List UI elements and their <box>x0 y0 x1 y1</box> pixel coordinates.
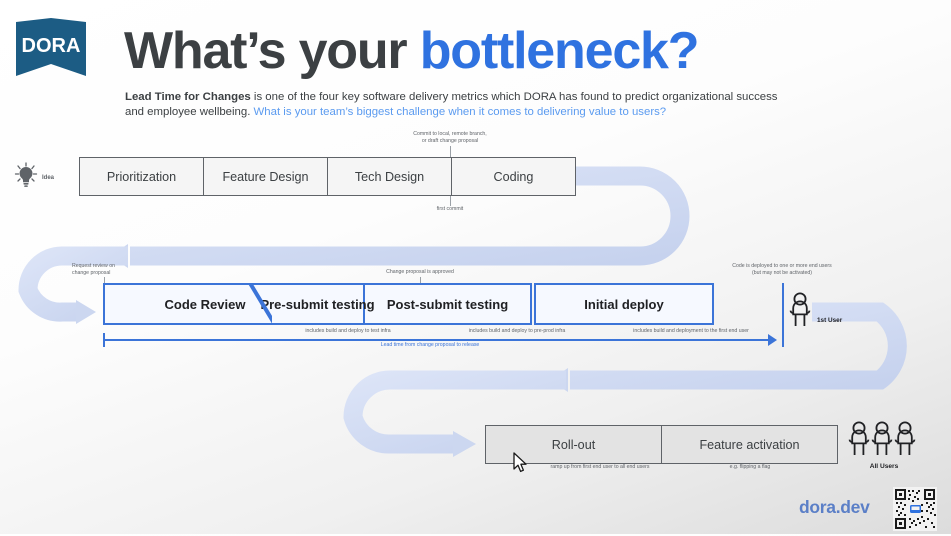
stage-label: Prioritization <box>107 170 176 184</box>
lead-time-arrow-icon <box>768 334 777 346</box>
subtitle-metric-name: Lead Time for Changes <box>125 91 251 103</box>
dora-logo-text: DORA <box>22 35 81 57</box>
row3-stages: Roll-out Feature activation <box>485 425 838 464</box>
page-title-highlight: bottleneck? <box>420 22 699 80</box>
stage-label: Coding <box>494 170 534 184</box>
idea-label: Idea <box>42 175 54 181</box>
stage-label: Initial deploy <box>584 297 663 312</box>
stage-label: Roll-out <box>552 438 595 452</box>
annotation-commit-line1: Commit to local, remote branch, <box>390 131 510 138</box>
all-users-label: All Users <box>850 463 918 470</box>
annotation-request-review-line1: Request review on <box>72 263 182 270</box>
row2-stages: Code Review Post-submit testing Initial … <box>103 283 777 325</box>
dora-logo: DORA <box>12 18 90 90</box>
stage-label: Pre-submit testing <box>260 297 374 312</box>
annotation-firstcommit-tick <box>450 196 451 206</box>
person-icon <box>789 292 811 333</box>
stage-label: Tech Design <box>355 170 424 184</box>
slide-canvas: DORA What’s your bottleneck? Lead Time f… <box>0 0 951 534</box>
stage-label: Post-submit testing <box>387 297 508 312</box>
annotation-deployed-line1: Code is deployed to one or more end user… <box>692 263 872 270</box>
person-icon <box>848 419 870 464</box>
stage-label: Feature activation <box>699 438 799 452</box>
first-user-marker: 1st User <box>789 292 842 333</box>
subtitle-question-link[interactable]: What is your team’s biggest challenge wh… <box>254 106 667 118</box>
idea-start-marker: Idea <box>14 162 54 193</box>
stage-tech-design[interactable]: Tech Design <box>328 158 452 195</box>
page-subtitle: Lead Time for Changes is one of the four… <box>125 90 790 120</box>
qr-code-icon[interactable] <box>893 487 937 531</box>
stage-label: Code Review <box>165 297 246 312</box>
footer-url[interactable]: dora.dev <box>799 497 870 518</box>
annotation-deployed-line2: (but may not be activated) <box>692 270 872 277</box>
stage-feature-design[interactable]: Feature Design <box>204 158 328 195</box>
annotation-commit-tick <box>450 146 451 157</box>
mouse-cursor <box>513 452 529 474</box>
stage-pre-submit-testing[interactable]: Pre-submit testing <box>272 283 363 325</box>
person-icon <box>894 419 916 464</box>
stage-label: Feature Design <box>222 170 308 184</box>
caption-roll-out: ramp up from first end user to all end u… <box>500 464 700 471</box>
annotation-commit-line2: or draft change proposal <box>390 138 510 145</box>
all-users-marker: All Users <box>848 419 916 464</box>
caption-feature-activation: e.g. flipping a flag <box>690 464 810 471</box>
first-user-label: 1st User <box>817 317 842 324</box>
stage-initial-deploy[interactable]: Initial deploy <box>534 283 714 325</box>
annotation-proposal-approved: Change proposal is approved <box>330 269 510 276</box>
row1-stages: Prioritization Feature Design Tech Desig… <box>79 157 576 196</box>
annotation-request-review-line2: change proposal <box>72 270 182 277</box>
person-icon <box>871 419 893 464</box>
lead-time-line <box>103 339 771 341</box>
stage-prioritization[interactable]: Prioritization <box>80 158 204 195</box>
lead-time-label: Lead time from change proposal to releas… <box>330 342 530 349</box>
page-title-plain: What’s your <box>124 22 420 80</box>
lead-time-end-marker <box>782 283 784 347</box>
lightbulb-icon <box>14 162 38 193</box>
stage-feature-activation[interactable]: Feature activation <box>662 426 837 463</box>
stage-coding[interactable]: Coding <box>452 158 575 195</box>
annotation-first-commit: first commit <box>400 206 500 213</box>
page-title: What’s your bottleneck? <box>124 22 698 80</box>
stage-post-submit-testing[interactable]: Post-submit testing <box>363 283 532 325</box>
